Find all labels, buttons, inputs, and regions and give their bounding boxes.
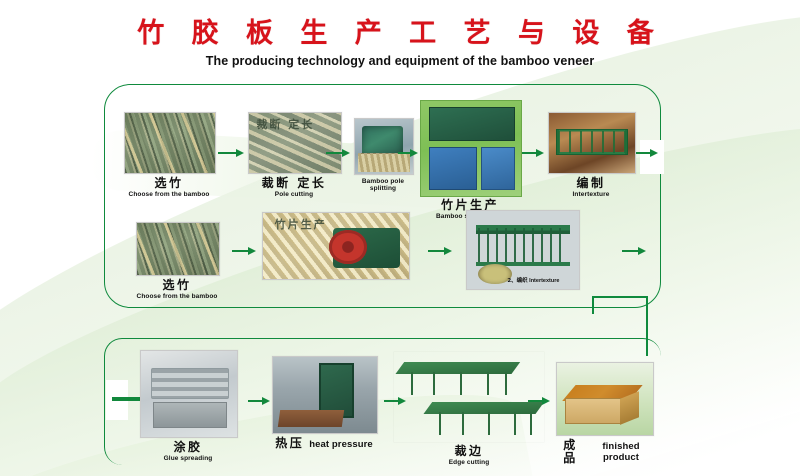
frame-gap-mask-upper	[640, 140, 664, 174]
caption-cn: 裁边	[394, 445, 544, 458]
photo-intertexture-rig	[548, 112, 636, 174]
arrow-5	[636, 148, 658, 157]
frame-connector-vertical	[646, 296, 648, 356]
step-choose-bamboo-2[interactable]: 选竹 Choose from the bamboo	[136, 222, 218, 301]
arrow-1	[218, 148, 244, 157]
caption-en: Edge cutting	[394, 459, 544, 466]
photo-pole-splitting-machine	[354, 118, 414, 175]
caption-edge-cutting: 裁边 Edge cutting	[394, 445, 544, 467]
step-intertexture-2[interactable]: 2、编织 Intertexture	[466, 210, 578, 290]
caption-cn: 涂胶	[140, 441, 236, 454]
caption-cn: 选竹	[136, 279, 218, 292]
step-strip-production[interactable]: 竹片生产	[262, 212, 408, 280]
photo-slat-molding-panel	[420, 100, 522, 197]
arrow-11	[528, 396, 550, 405]
caption-en: Choose from the bamboo	[124, 191, 214, 198]
caption-heat-press: 热压 heat pressure	[272, 437, 376, 451]
photo-overlay-text: 裁断 定长	[256, 116, 314, 132]
photo-bamboo-poles-2	[136, 222, 220, 276]
caption-en: heat pressure	[309, 440, 373, 451]
poster-title-block: 竹 胶 板 生 产 工 艺 与 设 备 The producing techno…	[0, 18, 800, 68]
arrow-8	[622, 246, 646, 255]
photo-weaving-machine: 2、编织 Intertexture	[466, 210, 580, 290]
arrow-6	[232, 246, 256, 255]
arrow-9	[248, 396, 270, 405]
caption-choose-bamboo-2: 选竹 Choose from the bamboo	[136, 279, 218, 301]
arrow-3	[398, 148, 418, 157]
caption-finished-product: 成 品 finished product	[556, 439, 652, 466]
caption-pole-cutting: 裁断 定长 Pole cutting	[248, 177, 340, 199]
photo-edge-cutting-conveyors	[394, 352, 544, 442]
caption-cn: 选竹	[124, 177, 214, 190]
photo-overlay-text: 竹片生产	[275, 216, 327, 232]
caption-en: Intertexture	[548, 191, 634, 198]
arrow-7	[428, 246, 452, 255]
caption-en: finished product	[590, 442, 652, 463]
caption-cn: 编制	[548, 177, 634, 190]
caption-en: Glue spreading	[140, 455, 236, 462]
step-heat-press[interactable]: 热压 heat pressure	[272, 356, 376, 451]
inner-label-en: Intertexture	[529, 278, 559, 284]
caption-en: Bamboo pole splitting	[354, 178, 412, 193]
caption-en: Pole cutting	[248, 191, 340, 198]
step-choose-bamboo-1[interactable]: 选竹 Choose from the bamboo	[124, 112, 214, 199]
caption-cn: 裁断 定长	[248, 177, 340, 190]
photo-finished-block	[556, 362, 654, 436]
photo-inner-label: 2、编织 Intertexture	[507, 276, 559, 284]
poster-canvas: 竹 胶 板 生 产 工 艺 与 设 备 The producing techno…	[0, 0, 800, 476]
title-chinese: 竹 胶 板 生 产 工 艺 与 设 备	[0, 18, 800, 49]
step-edge-cutting[interactable]: 裁边 Edge cutting	[394, 352, 544, 467]
photo-glue-spreader	[140, 350, 238, 438]
frame-connector-stub	[592, 296, 594, 314]
frame-connector-horizontal	[592, 296, 648, 298]
title-english: The producing technology and equipment o…	[0, 54, 800, 68]
step-finished-product[interactable]: 成 品 finished product	[556, 362, 652, 466]
arrow-2	[326, 148, 350, 157]
photo-cut-poles: 裁断 定长	[248, 112, 342, 174]
arrow-4	[522, 148, 544, 157]
photo-heat-press	[272, 356, 378, 434]
photo-strip-machine: 竹片生产	[262, 212, 410, 280]
caption-cn: 热压	[275, 437, 304, 450]
caption-en: Choose from the bamboo	[136, 293, 218, 300]
step-glue-spreading[interactable]: 涂胶 Glue spreading	[140, 350, 236, 463]
caption-choose-bamboo-1: 选竹 Choose from the bamboo	[124, 177, 214, 199]
step-intertexture-1[interactable]: 编制 Intertexture	[548, 112, 634, 199]
caption-intertexture-1: 编制 Intertexture	[548, 177, 634, 199]
caption-cn: 成 品	[556, 439, 585, 466]
photo-bamboo-poles	[124, 112, 216, 174]
caption-pole-splitting: Bamboo pole splitting	[354, 178, 412, 193]
inner-label-cn: 2、编织	[507, 278, 527, 284]
caption-glue-spreading: 涂胶 Glue spreading	[140, 441, 236, 463]
